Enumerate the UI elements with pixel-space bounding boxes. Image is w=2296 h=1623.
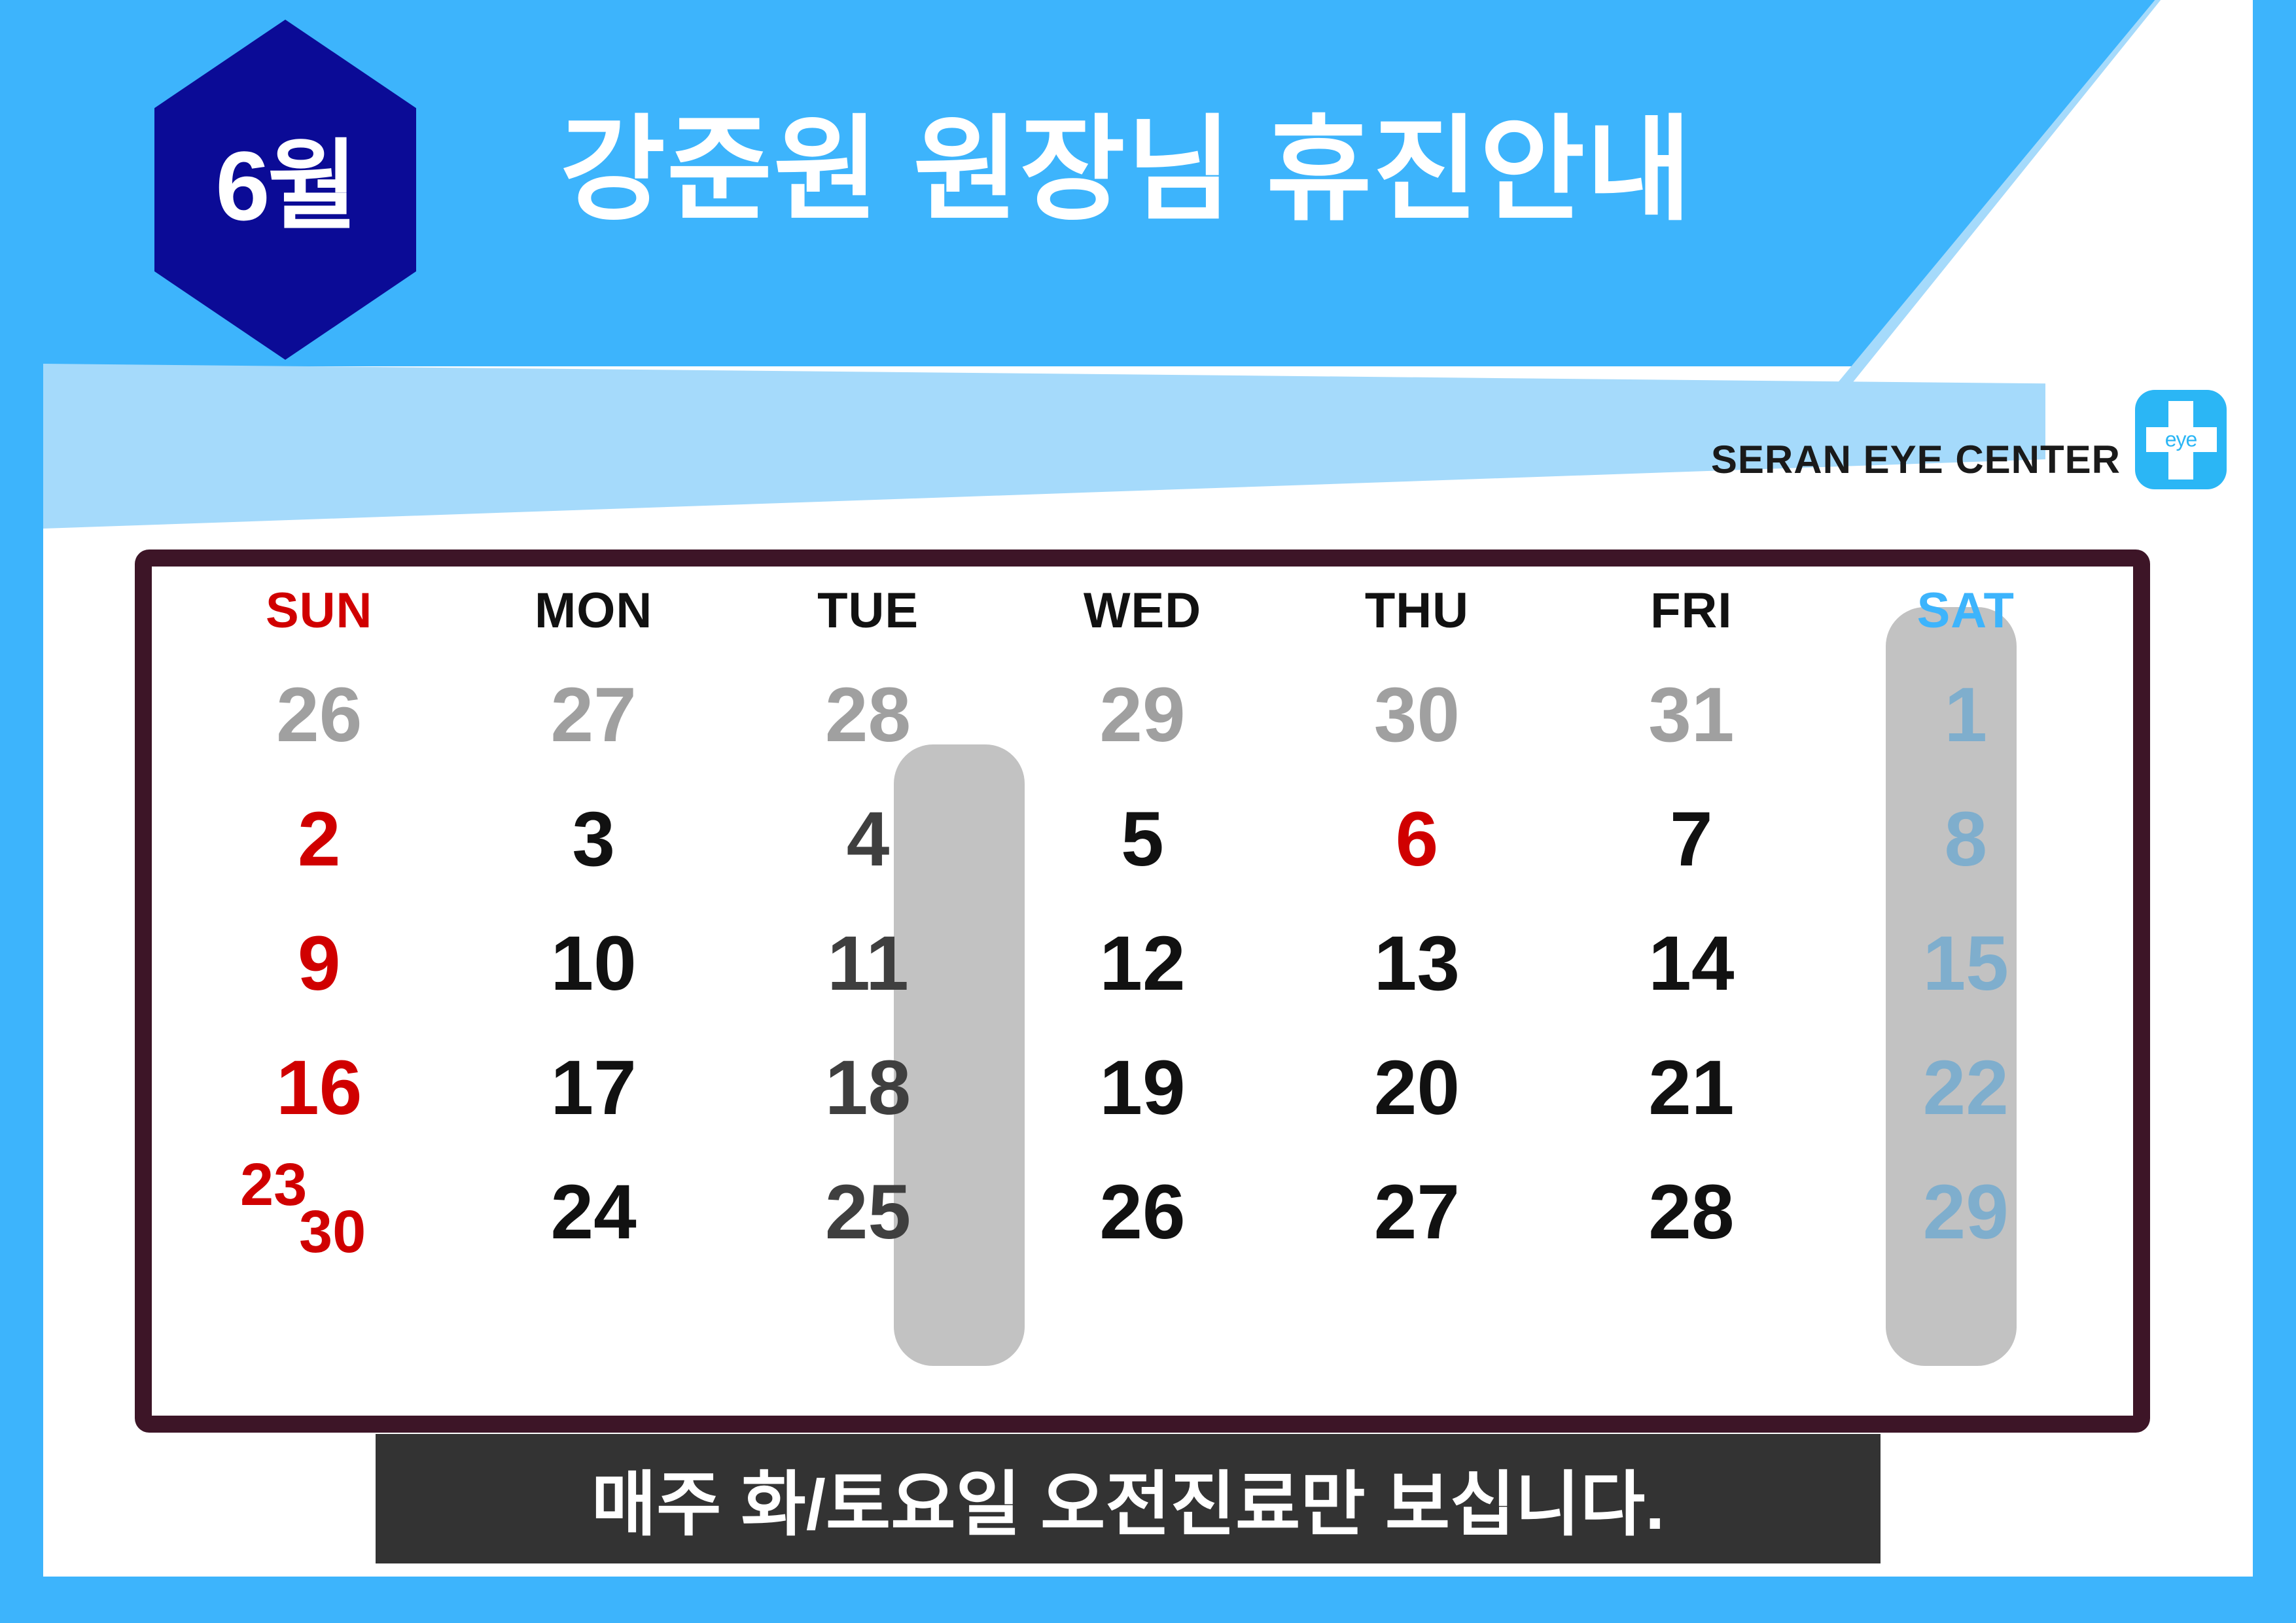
day-of-week-header-fri: FRI (1554, 582, 1828, 654)
calendar-day-cell: 6 (1280, 778, 1554, 902)
calendar-day-cell: 13 (1280, 902, 1554, 1026)
calendar-day-cell: 28 (1554, 1151, 1828, 1275)
calendar-day-cell: 20 (1280, 1026, 1554, 1151)
calendar-day-cell: 4 (731, 778, 1005, 902)
calendar-day-cell: 10 (456, 902, 730, 1026)
calendar-day-cell: 19 (1005, 1026, 1279, 1151)
calendar-day-cell: 27 (1280, 1151, 1554, 1275)
calendar-day-number-primary: 23 (240, 1155, 307, 1215)
calendar-day-cell: 24 (456, 1151, 730, 1275)
calendar-day-cell: 30 (1280, 654, 1554, 778)
notice-banner: 매주 화/토요일 오전진료만 보십니다. (376, 1434, 1881, 1563)
calendar-day-cell: 15 (1829, 902, 2103, 1026)
calendar-day-cell: 18 (731, 1026, 1005, 1151)
calendar-day-cell: 25 (731, 1151, 1005, 1275)
logo-eye-label: eye (2135, 428, 2227, 449)
calendar-day-cell: 7 (1554, 778, 1828, 902)
day-of-week-header-sat: SAT (1829, 582, 2103, 654)
calendar-day-cell: 2330 (182, 1151, 456, 1275)
calendar-day-cell: 1 (1829, 654, 2103, 778)
medical-cross-icon: eye (2135, 390, 2227, 489)
calendar-day-cell: 26 (182, 654, 456, 778)
page-title: 강준원 원장님 휴진안내 (560, 105, 1693, 236)
day-of-week-header-wed: WED (1005, 582, 1279, 654)
calendar-day-cell: 22 (1829, 1026, 2103, 1151)
calendar-day-cell: 9 (182, 902, 456, 1026)
calendar-day-cell: 27 (456, 654, 730, 778)
calendar-day-cell: 11 (731, 902, 1005, 1026)
brand-name-label: SERAN EYE CENTER (1711, 437, 2121, 482)
day-of-week-header-thu: THU (1280, 582, 1554, 654)
calendar-day-cell: 29 (1005, 654, 1279, 778)
calendar-day-cell: 16 (182, 1026, 456, 1151)
calendar-day-cell: 26 (1005, 1151, 1279, 1275)
calendar-inner: SUNMONTUEWEDTHUFRISAT2627282930311234567… (152, 567, 2133, 1416)
poster-page: 6월 강준원 원장님 휴진안내 SERAN EYE CENTER eye SUN… (43, 0, 2253, 1577)
calendar-day-cell: 29 (1829, 1151, 2103, 1275)
calendar-day-cell: 17 (456, 1026, 730, 1151)
calendar-frame: SUNMONTUEWEDTHUFRISAT2627282930311234567… (135, 550, 2150, 1433)
calendar-day-cell: 31 (1554, 654, 1828, 778)
day-of-week-header-sun: SUN (182, 582, 456, 654)
brand-block: SERAN EYE CENTER eye (1711, 390, 2227, 489)
calendar-day-cell: 28 (731, 654, 1005, 778)
calendar-day-cell: 8 (1829, 778, 2103, 902)
calendar-day-cell: 2 (182, 778, 456, 902)
calendar-day-cell: 21 (1554, 1026, 1828, 1151)
calendar-day-cell: 14 (1554, 902, 1828, 1026)
day-of-week-header-tue: TUE (731, 582, 1005, 654)
calendar-grid: SUNMONTUEWEDTHUFRISAT2627282930311234567… (152, 567, 2133, 1275)
calendar-day-cell: 12 (1005, 902, 1279, 1026)
calendar-day-cell: 3 (456, 778, 730, 902)
month-badge-label: 6월 (215, 137, 355, 235)
calendar-day-cell: 5 (1005, 778, 1279, 902)
calendar-day-number-secondary: 30 (299, 1202, 366, 1262)
day-of-week-header-mon: MON (456, 582, 730, 654)
